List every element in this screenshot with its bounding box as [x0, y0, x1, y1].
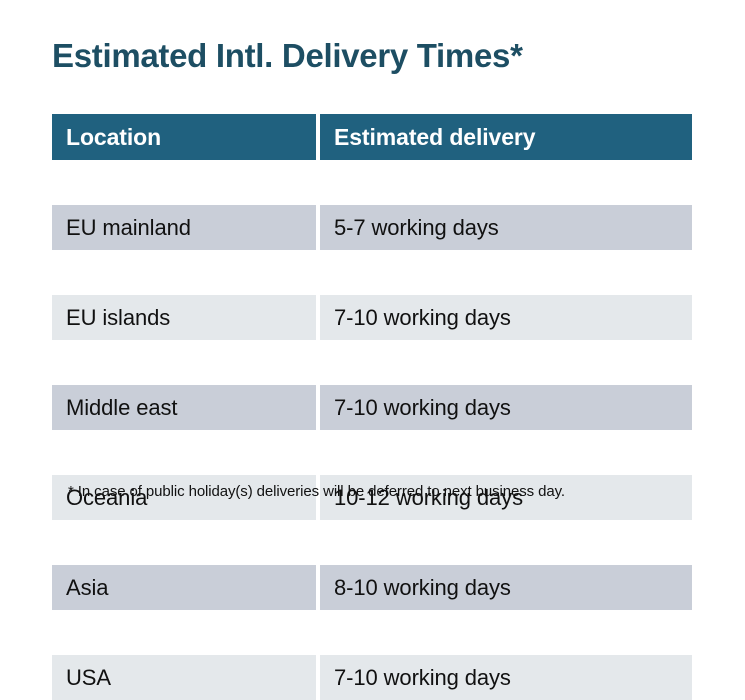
cell-location: USA — [52, 655, 316, 700]
row-separator-cell — [320, 610, 692, 655]
row-separator — [52, 610, 692, 655]
table-row: USA 7-10 working days — [52, 655, 692, 700]
table-row: EU mainland 5-7 working days — [52, 205, 692, 250]
row-separator-cell — [52, 250, 316, 295]
row-separator-cell — [320, 250, 692, 295]
table-row: EU islands 7-10 working days — [52, 295, 692, 340]
row-separator — [52, 250, 692, 295]
row-separator — [52, 520, 692, 565]
table-row: Asia 8-10 working days — [52, 565, 692, 610]
row-separator — [52, 430, 692, 475]
footnote-text: * In case of public holiday(s) deliverie… — [68, 483, 565, 500]
table-body: EU mainland 5-7 working days EU islands … — [52, 160, 692, 700]
cell-location: Middle east — [52, 385, 316, 430]
row-separator — [52, 160, 692, 205]
row-separator-cell — [320, 430, 692, 475]
row-separator-cell — [320, 520, 692, 565]
cell-estimated-delivery: 7-10 working days — [320, 385, 692, 430]
delivery-times-panel: Estimated Intl. Delivery Times* Location… — [0, 0, 745, 536]
page-title: Estimated Intl. Delivery Times* — [52, 37, 523, 75]
row-separator-cell — [52, 430, 316, 475]
row-separator-cell — [320, 340, 692, 385]
row-separator — [52, 340, 692, 385]
table-head: Location Estimated delivery — [52, 114, 692, 160]
row-separator-cell — [52, 160, 316, 205]
delivery-times-table: Location Estimated delivery EU mainland … — [52, 114, 692, 700]
cell-estimated-delivery: 8-10 working days — [320, 565, 692, 610]
row-separator-cell — [52, 340, 316, 385]
cell-location: EU mainland — [52, 205, 316, 250]
table-row: Middle east 7-10 working days — [52, 385, 692, 430]
cell-estimated-delivery: 7-10 working days — [320, 655, 692, 700]
column-header-estimated-delivery: Estimated delivery — [320, 114, 692, 160]
cell-location: EU islands — [52, 295, 316, 340]
row-separator-cell — [52, 520, 316, 565]
table-header-row: Location Estimated delivery — [52, 114, 692, 160]
row-separator-cell — [320, 160, 692, 205]
cell-estimated-delivery: 5-7 working days — [320, 205, 692, 250]
row-separator-cell — [52, 610, 316, 655]
cell-location: Asia — [52, 565, 316, 610]
column-header-location: Location — [52, 114, 316, 160]
cell-estimated-delivery: 7-10 working days — [320, 295, 692, 340]
